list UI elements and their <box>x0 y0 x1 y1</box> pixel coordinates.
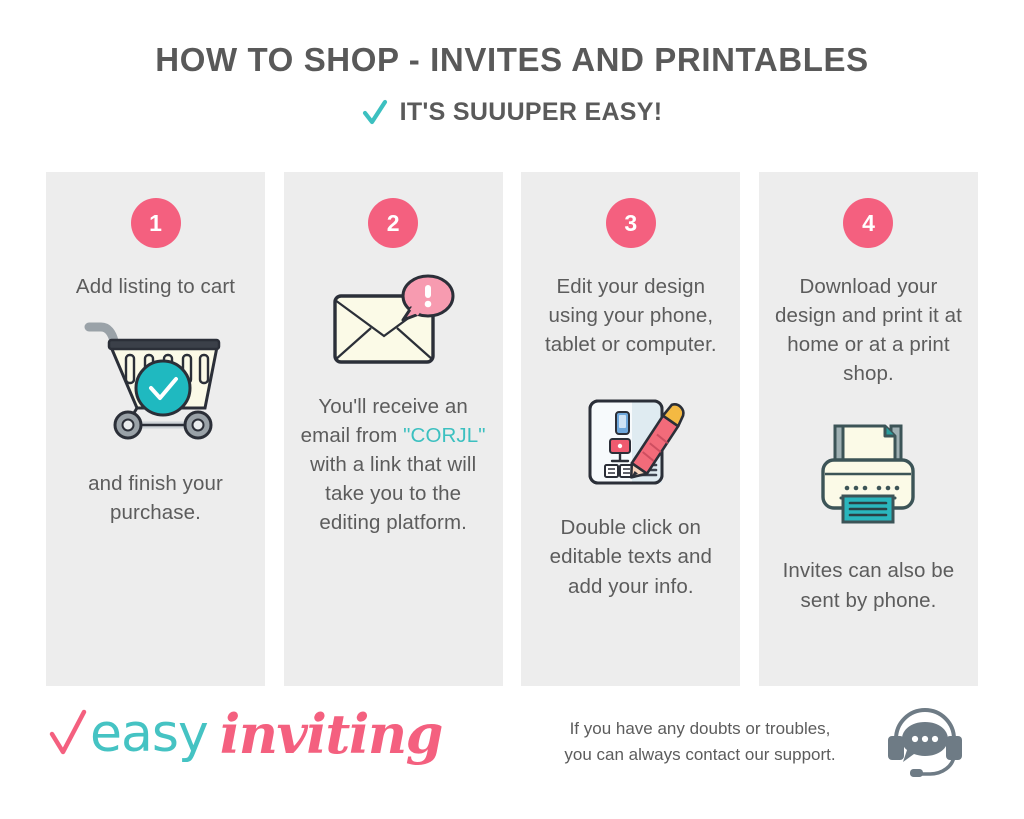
printer-icon <box>809 412 927 524</box>
steps-container: 1 Add listing to cart <box>46 172 978 686</box>
page-title: HOW TO SHOP - INVITES AND PRINTABLES <box>0 42 1024 78</box>
step-text-part2: with a link that will take you to the ed… <box>310 453 476 534</box>
footer: easy inviting If you have any doubts or … <box>0 694 1024 819</box>
step-text-bottom-4: Invites can also be sent by phone. <box>771 556 966 614</box>
logo-word-inviting: inviting <box>220 702 442 766</box>
infographic-page: HOW TO SHOP - INVITES AND PRINTABLES IT'… <box>0 0 1024 819</box>
step-text-top-1: Add listing to cart <box>76 272 235 301</box>
step-text-top-4: Download your design and print it at hom… <box>771 272 966 388</box>
step-number-badge-2: 2 <box>368 198 418 248</box>
step-text-top-3: Edit your design using your phone, table… <box>533 272 728 359</box>
step-number-badge-4: 4 <box>843 198 893 248</box>
step-panel-4: 4 Download your design and print it at h… <box>759 172 978 686</box>
step-text-bottom-2: You'll receive an email from "CORJL" wit… <box>296 392 491 538</box>
logo-word-easy: easy <box>90 704 208 764</box>
step-panel-3: 3 Edit your design using your phone, tab… <box>521 172 740 686</box>
header: HOW TO SHOP - INVITES AND PRINTABLES IT'… <box>0 0 1024 127</box>
check-icon <box>362 99 388 127</box>
support-line-2: you can always contact our support. <box>520 742 880 768</box>
support-text: If you have any doubts or troubles, you … <box>520 716 880 769</box>
subtitle-text: IT'S SUUUPER EASY! <box>400 98 663 127</box>
support-line-1: If you have any doubts or troubles, <box>520 716 880 742</box>
headset-support-icon <box>884 706 966 783</box>
envelope-notification-icon <box>329 274 457 366</box>
step-panel-1: 1 Add listing to cart <box>46 172 265 686</box>
step-text-bottom-3: Double click on editable texts and add y… <box>533 513 728 600</box>
document-pencil-icon <box>572 379 690 491</box>
corjl-highlight: "CORJL" <box>403 424 485 447</box>
brand-logo: easy inviting <box>48 702 442 766</box>
step-text-bottom-1: and finish your purchase. <box>58 469 253 527</box>
step-number-badge-1: 1 <box>131 198 181 248</box>
check-icon <box>48 708 88 760</box>
shopping-cart-check-icon <box>81 315 231 443</box>
subtitle-row: IT'S SUUUPER EASY! <box>0 98 1024 127</box>
step-number-badge-3: 3 <box>606 198 656 248</box>
step-panel-2: 2 You'll receive an e <box>284 172 503 686</box>
